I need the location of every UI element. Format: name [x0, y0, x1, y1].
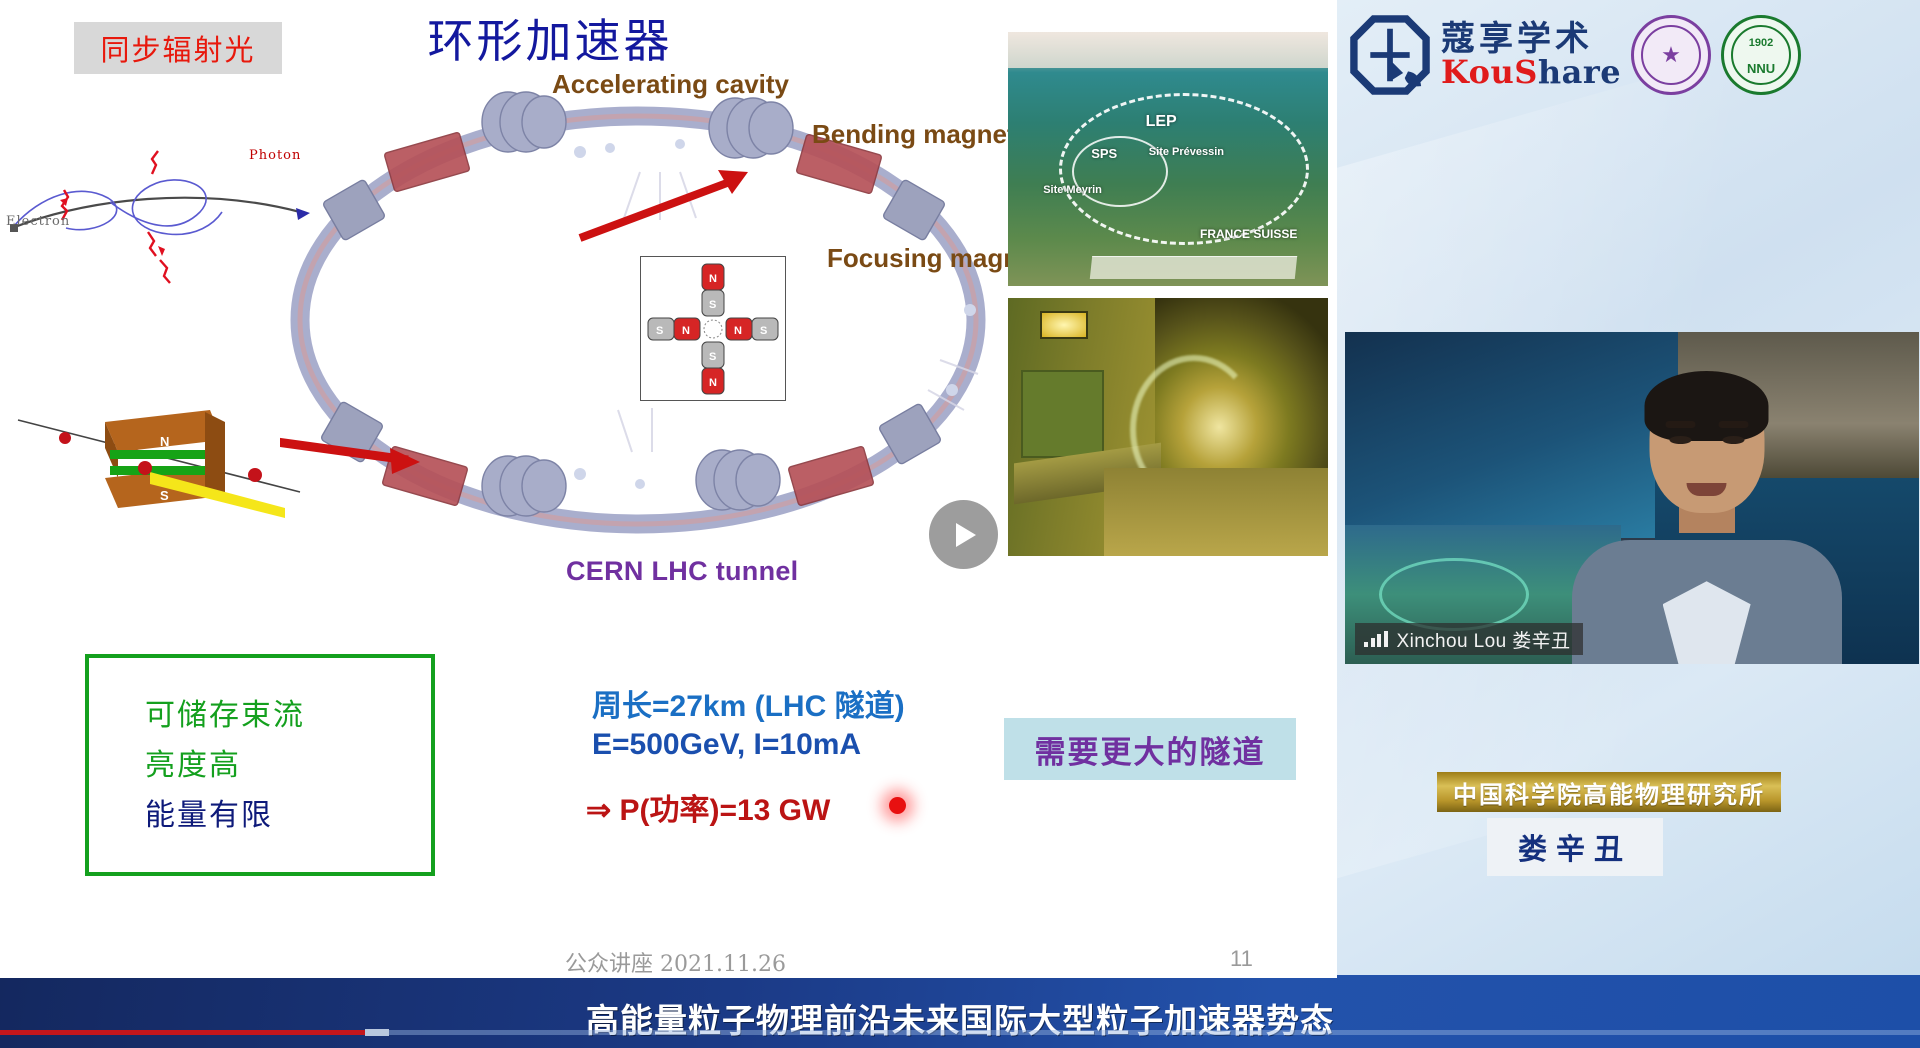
accelerating-cavity-label: Accelerating cavity: [552, 70, 789, 100]
advantages-box: 可储存束流 亮度高 能量有限: [85, 654, 435, 876]
speaker-video-feed[interactable]: Xinchou Lou 娄辛丑: [1345, 332, 1919, 664]
advantage-line-2: 亮度高: [145, 740, 241, 784]
progress-handle[interactable]: [365, 1029, 389, 1036]
progress-bar[interactable]: [0, 1030, 1920, 1035]
slide-page-number: 11: [1230, 946, 1253, 972]
signal-bars-icon: [1364, 631, 1388, 647]
synchrotron-radiation-badge: 同步辐射光: [74, 22, 282, 74]
bottom-banner: 高能量粒子物理前沿未来国际大型粒子加速器势态: [0, 975, 1920, 1048]
sps-label: SPS: [1091, 146, 1117, 161]
video-play-button[interactable]: [929, 500, 998, 569]
brand-name-cn: 蔻享学术: [1441, 22, 1621, 56]
france-suisse-label: FRANCE SUISSE: [1200, 228, 1297, 241]
svg-text:N: N: [709, 377, 717, 389]
formula-power: ⇒ P(功率)=13 GW: [586, 785, 830, 829]
svg-text:S: S: [656, 325, 663, 337]
electron-label: Electron: [6, 214, 70, 229]
svg-text:N: N: [682, 325, 690, 337]
speaker-portrait: [1609, 359, 1804, 664]
slide-area: 同步辐射光 环形加速器 Electron Photon: [0, 0, 1337, 975]
formula-circumference: 周长=27km (LHC 隧道): [592, 681, 905, 725]
site-meyrin-label: Site Meyrin: [1043, 184, 1102, 196]
bigger-tunnel-callout: 需要更大的隧道: [1004, 718, 1296, 780]
nnu-year: 1902: [1724, 37, 1798, 49]
lep-tunnel-photo: [1008, 298, 1328, 556]
laser-pointer-dot: [889, 797, 906, 814]
speaker-name-text: Xinchou Lou 娄辛丑: [1397, 626, 1571, 653]
svg-text:S: S: [160, 488, 169, 503]
nnu-abbr: NNU: [1724, 61, 1798, 76]
koushare-logo-icon: [1349, 14, 1431, 96]
speaker-name-plate: 娄辛丑: [1487, 818, 1663, 876]
affiliation-banner: 中国科学院高能物理研究所: [1437, 772, 1781, 812]
site-prevessin-label: Site Prévessin: [1149, 146, 1224, 158]
cern-lhc-tunnel-label: CERN LHC tunnel: [566, 556, 798, 587]
advantage-line-1: 可储存束流: [145, 690, 305, 734]
svg-text:N: N: [734, 325, 742, 337]
slide-footer-left: 公众讲座 2021.11.26: [565, 946, 786, 975]
lep-label: LEP: [1146, 113, 1177, 131]
speaker-name-badge: Xinchou Lou 娄辛丑: [1355, 623, 1583, 655]
bending-magnet-label: Bending magnet: [812, 120, 1016, 150]
svg-text:S: S: [709, 351, 716, 363]
progress-fill: [0, 1030, 365, 1035]
brand-name-en: KouShare: [1441, 56, 1621, 88]
nanjing-normal-university-seal: 1902 NNU: [1721, 15, 1801, 95]
brand-text: 蔻享学术 KouShare: [1441, 22, 1621, 88]
tsinghua-university-seal: ★: [1631, 15, 1711, 95]
dipole-magnet-icon: N S: [10, 400, 320, 530]
play-icon: [956, 523, 976, 547]
svg-text:N: N: [709, 273, 717, 285]
svg-text:S: S: [709, 299, 716, 311]
svg-text:N: N: [160, 434, 169, 449]
quadrupole-magnet-inset: NS SN SN NS: [640, 256, 786, 401]
brand-logo-bar: 蔻享学术 KouShare ★ 1902 NNU: [1337, 0, 1920, 110]
cern-aerial-photo: LEP SPS Site Prévessin Site Meyrin FRANC…: [1008, 32, 1328, 286]
presentation-screen: 同步辐射光 环形加速器 Electron Photon: [0, 0, 1920, 1048]
advantage-line-3: 能量有限: [145, 790, 273, 834]
formula-energy-current: E=500GeV, I=10mA: [592, 728, 861, 762]
svg-text:S: S: [760, 325, 767, 337]
